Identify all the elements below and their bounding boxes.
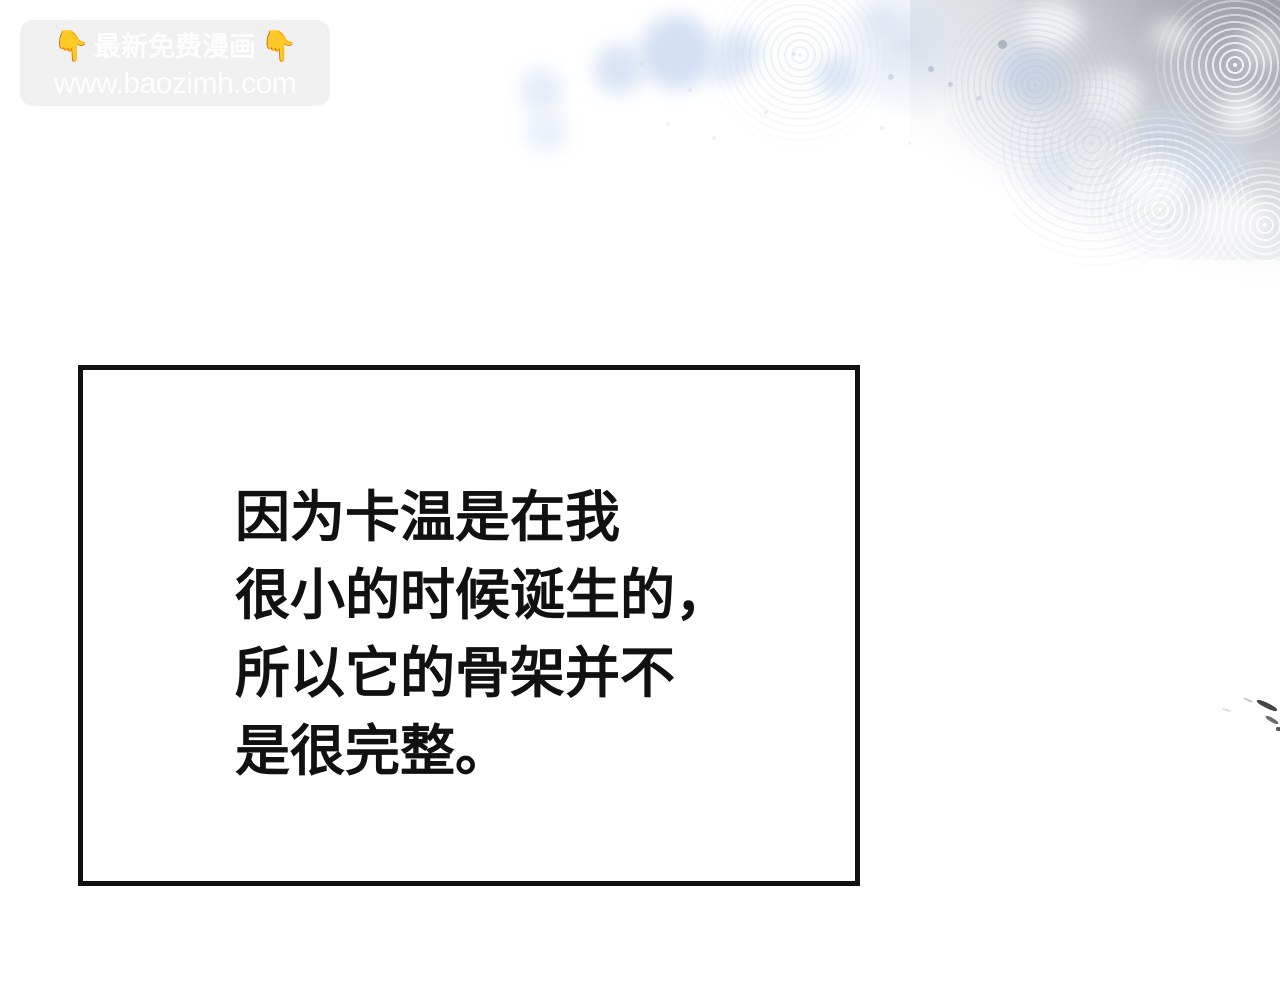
highlight-blob xyxy=(1240,24,1280,68)
site-watermark: 👇 最新免费漫画 👇 www.baozimh.com xyxy=(20,20,330,106)
highlight-blob xyxy=(1196,196,1266,240)
bokeh-blob xyxy=(519,68,563,112)
bokeh-blob xyxy=(1030,148,1074,192)
speck-dot xyxy=(880,126,884,130)
speck-dot xyxy=(888,74,894,80)
halftone-splatter xyxy=(830,0,980,120)
speck-dot xyxy=(640,62,644,66)
speck-dot xyxy=(1246,182,1250,186)
speck-dot xyxy=(1108,212,1112,216)
watermark-promo-text: 最新免费漫画 xyxy=(94,34,256,61)
speck-dot xyxy=(928,66,934,72)
highlight-blob xyxy=(1120,160,1190,208)
bokeh-blob xyxy=(1164,150,1210,196)
speck-dot xyxy=(998,40,1007,49)
dialogue-text: 因为卡温是在我 很小的时候诞生的， 所以它的骨架并不 是很完整。 xyxy=(235,478,730,790)
bokeh-blob xyxy=(1140,106,1194,160)
speck-dot xyxy=(764,110,768,114)
grey-gradient-wash-secondary xyxy=(910,0,1280,260)
pointing-down-hand-icon-left: 👇 xyxy=(53,32,90,62)
bokeh-blob xyxy=(717,30,761,74)
bokeh-blob xyxy=(705,50,739,84)
speck-dot xyxy=(666,122,670,126)
ink-stroke xyxy=(1256,698,1278,712)
bokeh-blob xyxy=(594,44,644,94)
ink-stroke xyxy=(1265,715,1279,725)
bokeh-blob xyxy=(1009,48,1069,108)
speck-dot xyxy=(976,96,981,101)
speck-dot xyxy=(948,82,953,87)
highlight-blob xyxy=(1084,68,1140,124)
speck-dot xyxy=(1068,186,1073,191)
dialogue-box: 因为卡温是在我 很小的时候诞生的， 所以它的骨架并不 是很完整。 xyxy=(78,365,860,886)
halftone-splatter xyxy=(700,0,900,150)
ink-stroke xyxy=(1243,697,1253,703)
ink-stroke xyxy=(1222,708,1231,713)
speck-dot xyxy=(688,88,692,92)
bokeh-blob xyxy=(1196,136,1250,190)
bokeh-blob xyxy=(525,110,567,152)
halftone-splatter xyxy=(1060,110,1260,310)
watermark-promo-row: 👇 最新免费漫画 👇 xyxy=(53,27,298,67)
watermark-url: www.baozimh.com xyxy=(54,69,297,99)
halftone-splatter xyxy=(940,0,1130,180)
highlight-blob xyxy=(1022,2,1082,48)
bokeh-blob xyxy=(816,56,856,96)
speck-dot xyxy=(792,52,796,56)
ink-stroke xyxy=(1276,727,1280,732)
halftone-splatter xyxy=(1150,0,1280,150)
speck-dot xyxy=(908,142,911,145)
bokeh-blob xyxy=(640,15,714,89)
highlight-blob xyxy=(1218,94,1266,134)
speck-dot xyxy=(1166,224,1170,228)
pointing-down-hand-icon-right: 👇 xyxy=(260,32,297,62)
bokeh-blob xyxy=(866,4,896,34)
halftone-splatter xyxy=(1000,60,1230,270)
bokeh-blob xyxy=(999,50,1045,96)
halftone-splatter xyxy=(1190,150,1280,300)
speck-dot xyxy=(712,136,716,140)
grey-gradient-wash xyxy=(840,0,1280,320)
highlight-blob xyxy=(1150,18,1190,52)
comic-page: 👇 最新免费漫画 👇 www.baozimh.com 因为卡温是在我 很小的时候… xyxy=(0,0,1280,1000)
